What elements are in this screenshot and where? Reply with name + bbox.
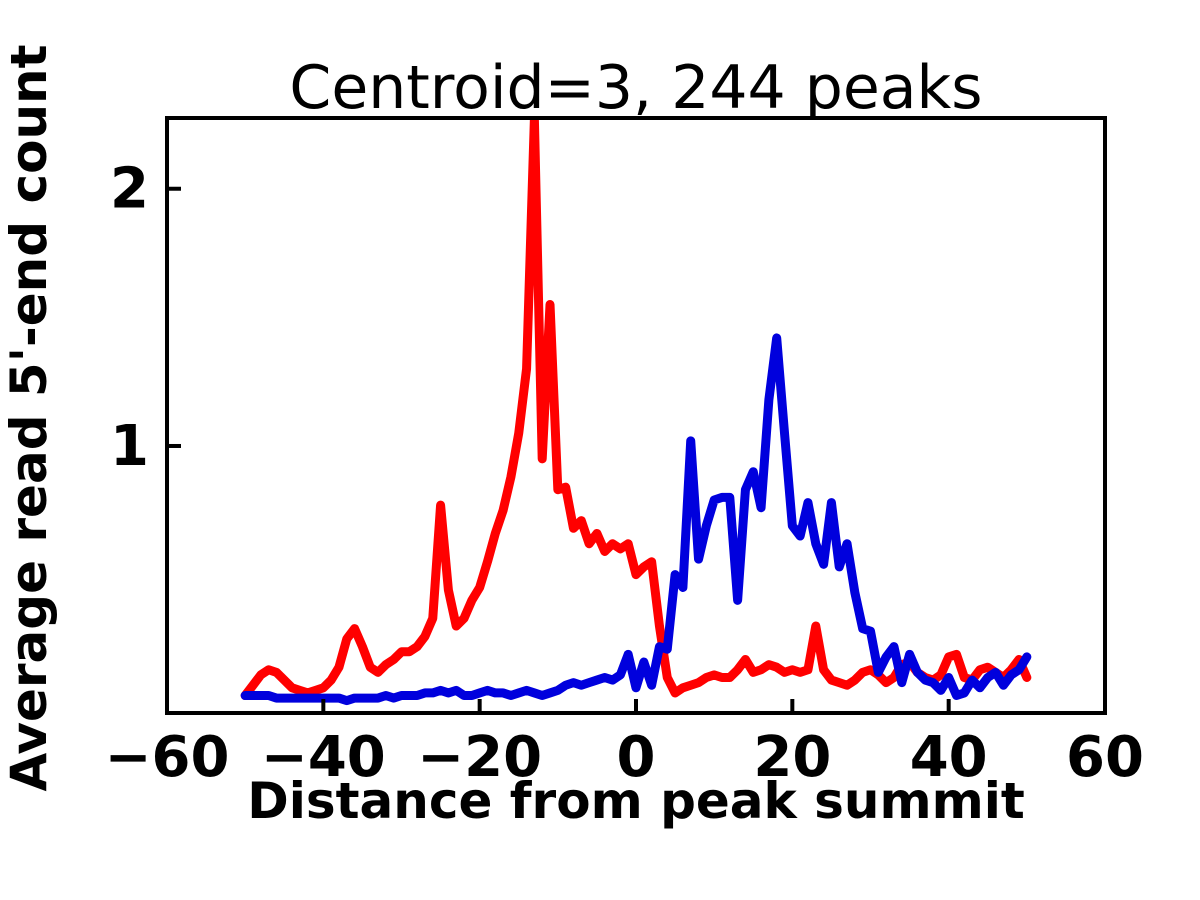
y-tick-label: 2 [110,157,149,222]
y-axis-tick-labels: 12 [110,157,149,479]
x-tick-label: 60 [1066,725,1144,790]
y-axis-label: Average read 5'-end count [0,44,58,791]
figure-canvas: Centroid=3, 244 peaks −60−40−200204060 1… [0,0,1200,900]
x-axis-label: Distance from peak summit [247,772,1025,830]
plot-area-background [167,118,1105,713]
chart-svg: Centroid=3, 244 peaks −60−40−200204060 1… [0,0,1200,900]
chart-title: Centroid=3, 244 peaks [289,53,982,123]
x-tick-label: −60 [105,725,230,790]
y-tick-label: 1 [110,414,149,479]
